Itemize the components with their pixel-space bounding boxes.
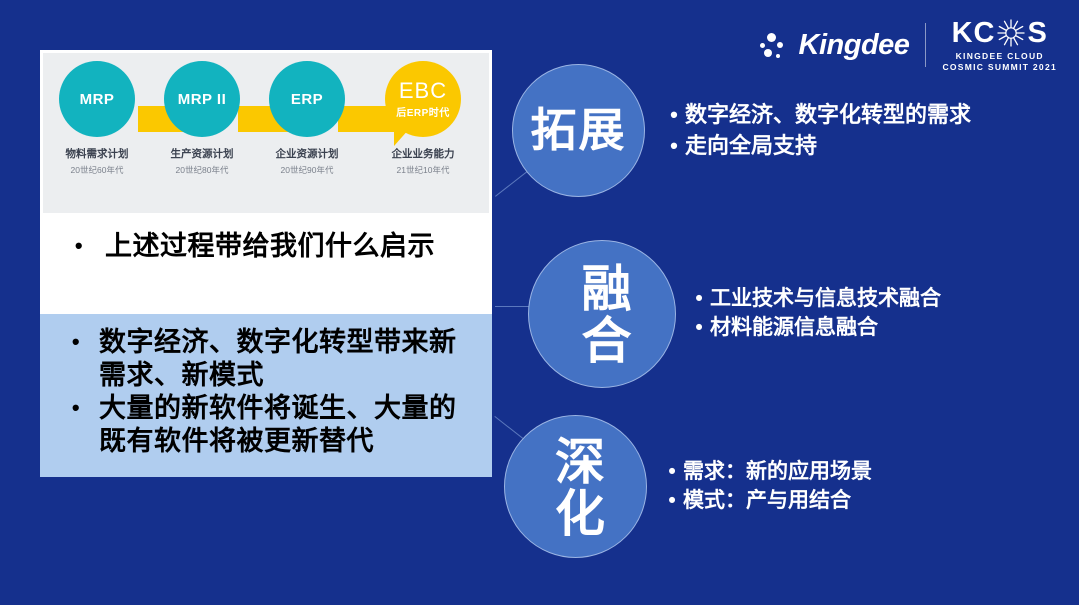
- pillar-point: • 模式：产与用结合: [661, 487, 872, 516]
- question-list: • 上述过程带给我们什么启示: [53, 230, 479, 263]
- bullet-marker: •: [661, 487, 683, 516]
- brand-divider: [925, 23, 926, 67]
- bullet-marker: •: [53, 326, 99, 358]
- pillar-point: • 材料能源信息融合: [688, 314, 941, 343]
- question-text: 上述过程带给我们什么启示: [105, 230, 479, 263]
- bullet-marker: •: [688, 285, 710, 314]
- evolution-sublabel-ebc: 后ERP时代: [396, 104, 450, 119]
- kingdee-logo: Kingdee: [760, 31, 910, 60]
- conclusion-list-item: • 大量的新软件将诞生、大量的既有软件将被更新替代: [53, 392, 479, 458]
- kcs-letters-left: KC: [952, 19, 996, 48]
- evolution-node-erp: ERP 企业资源计划 20世纪90年代: [265, 61, 349, 176]
- erp-evolution-inner: MRP 物料需求计划 20世纪60年代 MRP II 生产资源计划 20世纪80…: [43, 53, 489, 213]
- conclusion-box: • 数字经济、数字化转型带来新需求、新模式 • 大量的新软件将诞生、大量的既有软…: [40, 314, 492, 477]
- kcs-subtitle-line1: KINGDEE CLOUD: [942, 51, 1057, 61]
- pillar-point-text: 工业技术与信息技术融合: [710, 285, 941, 314]
- pillar-row-expand: 拓展 • 数字经济、数字化转型的需求 • 走向全局支持: [512, 64, 971, 197]
- pillar-row-fuse: 融合 • 工业技术与信息技术融合 • 材料能源信息融合: [528, 240, 941, 388]
- pillar-points-expand: • 数字经济、数字化转型的需求 • 走向全局支持: [663, 100, 971, 161]
- bullet-marker: •: [53, 392, 99, 424]
- evolution-circle-mrp: MRP: [59, 61, 135, 137]
- conclusion-text-1: 数字经济、数字化转型带来新需求、新模式: [99, 326, 479, 392]
- pillar-point-text: 数字经济、数字化转型的需求: [685, 100, 971, 130]
- slide-canvas: Kingdee KC: [0, 0, 1079, 605]
- pillar-circle-expand[interactable]: 拓展: [512, 64, 645, 197]
- evolution-era-erp: 20世纪90年代: [265, 164, 349, 176]
- kingdee-wordmark: Kingdee: [799, 31, 910, 60]
- erp-evolution-diagram: MRP 物料需求计划 20世纪60年代 MRP II 生产资源计划 20世纪80…: [40, 50, 492, 216]
- conclusion-list-item: • 数字经济、数字化转型带来新需求、新模式: [53, 326, 479, 392]
- evolution-label-mrp: MRP: [80, 91, 115, 108]
- question-box: • 上述过程带给我们什么启示: [40, 216, 492, 314]
- evolution-node-ebc: EBC 后ERP时代 企业业务能力 21世纪10年代: [381, 61, 465, 176]
- pillar-points-deepen: • 需求：新的应用场景 • 模式：产与用结合: [661, 458, 872, 516]
- pillar-label-deepen: 深化: [550, 435, 601, 539]
- kingdee-dots-icon: [760, 31, 790, 59]
- pillar-points-fuse: • 工业技术与信息技术融合 • 材料能源信息融合: [688, 285, 941, 343]
- bullet-marker: •: [53, 230, 105, 262]
- kcs-wordmark: KC: [942, 18, 1057, 48]
- bullet-marker: •: [688, 314, 710, 343]
- pillar-circle-fuse[interactable]: 融合: [528, 240, 676, 388]
- evolution-circle-ebc: EBC 后ERP时代: [385, 61, 461, 137]
- pillar-point-text: 材料能源信息融合: [710, 314, 878, 343]
- kcs-letters-right: S: [1027, 19, 1047, 48]
- conclusion-text-2: 大量的新软件将诞生、大量的既有软件将被更新替代: [99, 392, 479, 458]
- left-content-column: MRP 物料需求计划 20世纪60年代 MRP II 生产资源计划 20世纪80…: [40, 50, 492, 477]
- question-list-item: • 上述过程带给我们什么启示: [53, 230, 479, 263]
- evolution-caption-ebc: 企业业务能力: [381, 148, 465, 161]
- pillar-point-text: 走向全局支持: [685, 131, 817, 161]
- evolution-circle-erp: ERP: [269, 61, 345, 137]
- evolution-era-mrp: 20世纪60年代: [55, 164, 139, 176]
- pillar-point-text: 需求：新的应用场景: [683, 458, 872, 487]
- pillar-point: • 数字经济、数字化转型的需求: [663, 100, 971, 130]
- evolution-circle-mrp2: MRP II: [164, 61, 240, 137]
- pillar-label-expand: 拓展: [531, 107, 627, 154]
- pillar-label-fuse: 融合: [577, 262, 628, 366]
- sunburst-icon: [996, 18, 1026, 48]
- conclusion-list: • 数字经济、数字化转型带来新需求、新模式 • 大量的新软件将诞生、大量的既有软…: [53, 326, 479, 458]
- evolution-era-mrp2: 20世纪80年代: [160, 164, 244, 176]
- evolution-caption-mrp: 物料需求计划: [55, 148, 139, 161]
- evolution-label-ebc: EBC: [399, 80, 447, 102]
- bullet-marker: •: [661, 458, 683, 487]
- evolution-node-mrp: MRP 物料需求计划 20世纪60年代: [55, 61, 139, 176]
- evolution-node-mrp2: MRP II 生产资源计划 20世纪80年代: [160, 61, 244, 176]
- evolution-era-ebc: 21世纪10年代: [381, 164, 465, 176]
- pillar-point: • 走向全局支持: [663, 131, 971, 161]
- evolution-caption-mrp2: 生产资源计划: [160, 148, 244, 161]
- pillar-point: • 需求：新的应用场景: [661, 458, 872, 487]
- bullet-marker: •: [663, 100, 685, 130]
- pillar-point: • 工业技术与信息技术融合: [688, 285, 941, 314]
- pillar-point-text: 模式：产与用结合: [683, 487, 851, 516]
- evolution-label-mrp2: MRP II: [178, 91, 227, 108]
- evolution-label-erp: ERP: [291, 91, 323, 108]
- evolution-caption-erp: 企业资源计划: [265, 148, 349, 161]
- pillar-row-deepen: 深化 • 需求：新的应用场景 • 模式：产与用结合: [504, 415, 872, 558]
- bullet-marker: •: [663, 131, 685, 161]
- pillar-circle-deepen[interactable]: 深化: [504, 415, 647, 558]
